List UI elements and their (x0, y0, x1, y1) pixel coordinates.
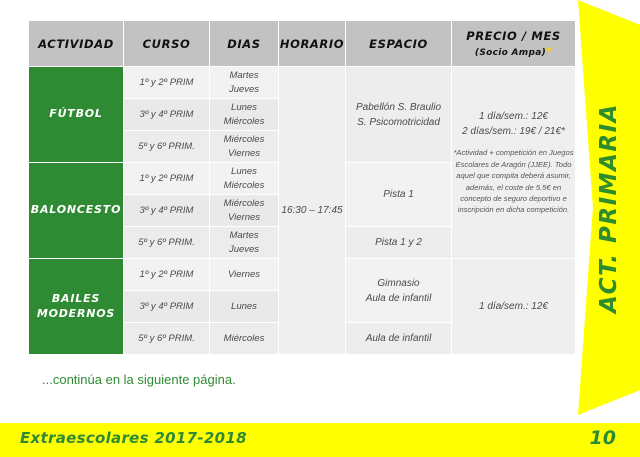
column-header-dias: DIAS (210, 21, 278, 66)
activity-cell-futbol: FÚTBOL (29, 67, 123, 162)
precio-line-1: 1 día/sem.: 12€ (479, 111, 548, 122)
activity-cell-baloncesto: BALONCESTO (29, 163, 123, 258)
dias-cell: Lunes (210, 291, 278, 322)
schedule-table: ACTIVIDAD CURSO DIAS HORARIO ESPACIO PRE… (28, 20, 576, 355)
column-header-actividad: ACTIVIDAD (29, 21, 123, 66)
precio-line-1: 1 día/sem.: 12€ (479, 301, 548, 312)
curso-cell: 5º y 6º PRIM. (124, 131, 209, 162)
dias-cell: Viernes (210, 259, 278, 290)
column-header-espacio: ESPACIO (346, 21, 451, 66)
table-body: FÚTBOL 1º y 2º PRIM Martes Jueves 16:30 … (29, 67, 575, 354)
curso-cell: 3º y 4º PRIM (124, 99, 209, 130)
horario-cell: 16:30 – 17:45 (279, 67, 345, 354)
curso-cell: 1º y 2º PRIM (124, 163, 209, 194)
dias-cell: Miércoles (210, 323, 278, 354)
footer-page-number: 10 (590, 427, 616, 449)
dias-cell: Miércoles Viernes (210, 195, 278, 226)
espacio-cell: Pabellón S. Braulio S. Psicomotricidad (346, 67, 451, 162)
continues-note: ...continúa en la siguiente página. (42, 372, 236, 387)
column-header-curso: CURSO (124, 21, 209, 66)
column-header-curso-label: CURSO (143, 37, 191, 51)
precio-cell-deportes: 1 día/sem.: 12€ 2 días/sem.: 19€ / 21€* … (452, 67, 575, 258)
dias-cell: Lunes Miércoles (210, 99, 278, 130)
column-header-precio-sub-label: (Socio Ampa) (475, 48, 546, 58)
column-header-horario: HORARIO (279, 21, 345, 66)
column-header-dias-label: DIAS (227, 37, 260, 51)
section-tab-primaria (578, 0, 640, 415)
curso-cell: 3º y 4º PRIM (124, 195, 209, 226)
column-header-espacio-label: ESPACIO (369, 37, 428, 51)
footer-title: Extraescolares 2017-2018 (20, 429, 247, 447)
column-header-precio-sub: (Socio Ampa)* (452, 45, 575, 58)
footer-banner: Extraescolares 2017-2018 10 (0, 423, 640, 457)
espacio-cell: Aula de infantil (346, 323, 451, 354)
curso-cell: 1º y 2º PRIM (124, 259, 209, 290)
espacio-cell: Gimnasio Aula de infantil (346, 259, 451, 322)
dias-cell: Lunes Miércoles (210, 163, 278, 194)
curso-cell: 1º y 2º PRIM (124, 67, 209, 98)
column-header-precio: PRECIO / MES (Socio Ampa)* (452, 21, 575, 66)
table-row: FÚTBOL 1º y 2º PRIM Martes Jueves 16:30 … (29, 67, 575, 98)
dias-cell: Martes Jueves (210, 67, 278, 98)
precio-footnote: *Actividad + competición en Juegos Escol… (452, 147, 575, 215)
page-root: ACT. PRIMARIA ACTIVIDAD CURSO DIAS HORAR… (0, 0, 640, 457)
curso-cell: 5º y 6º PRIM. (124, 227, 209, 258)
espacio-cell: Pista 1 y 2 (346, 227, 451, 258)
dias-cell: Martes Jueves (210, 227, 278, 258)
asterisk-icon: * (546, 45, 552, 58)
espacio-cell: Pista 1 (346, 163, 451, 226)
schedule-table-wrapper: ACTIVIDAD CURSO DIAS HORARIO ESPACIO PRE… (28, 20, 574, 355)
table-header-row: ACTIVIDAD CURSO DIAS HORARIO ESPACIO PRE… (29, 21, 575, 66)
precio-cell-bailes: 1 día/sem.: 12€ (452, 259, 575, 354)
precio-line-2: 2 días/sem.: 19€ / 21€* (462, 126, 565, 137)
column-header-horario-label: HORARIO (280, 37, 344, 51)
column-header-precio-label: PRECIO / MES (466, 29, 561, 43)
dias-cell: Miércoles Viernes (210, 131, 278, 162)
curso-cell: 5º y 6º PRIM. (124, 323, 209, 354)
curso-cell: 3º y 4º PRIM (124, 291, 209, 322)
activity-cell-bailes-modernos: BAILES MODERNOS (29, 259, 123, 354)
column-header-actividad-label: ACTIVIDAD (38, 37, 114, 51)
